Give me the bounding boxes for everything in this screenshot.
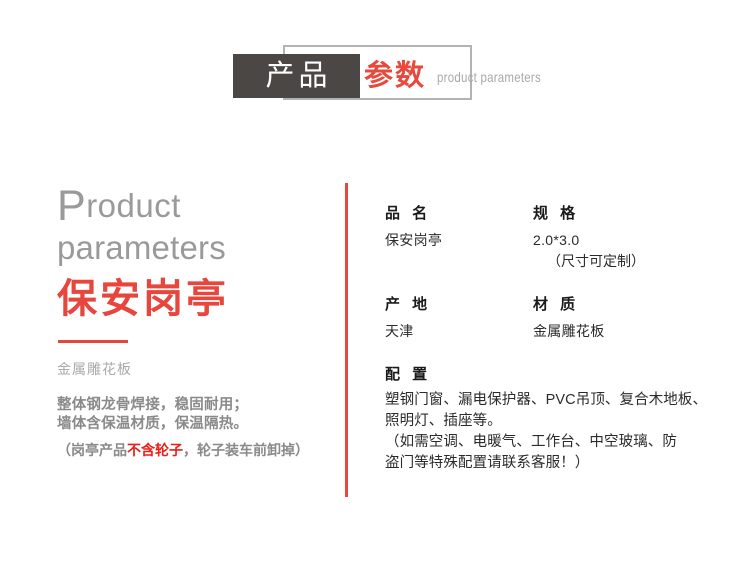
spec-cell-origin: 产 地 天津 [385, 294, 533, 342]
configuration-line-1: 塑钢门窗、漏电保护器、PVC吊顶、复合木地板、 [385, 390, 730, 411]
spec-value: 天津 [385, 321, 533, 342]
spec-value: 金属雕花板 [533, 321, 730, 342]
spec-row: 产 地 天津 材 质 金属雕花板 [385, 294, 730, 342]
product-material-subtitle: 金属雕花板 [57, 359, 332, 379]
column-divider [345, 183, 348, 497]
note-highlight: 不含轮子 [127, 442, 183, 458]
spec-value: 2.0*3.0 [533, 230, 730, 251]
product-description: 整体钢龙骨焊接，稳固耐用； 墙体含保温材质，保温隔热。 [57, 396, 332, 434]
spec-cell-name: 品 名 保安岗亭 [385, 203, 533, 272]
english-heading-rest: roduct [86, 187, 181, 224]
configuration-block: 配 置 塑钢门窗、漏电保护器、PVC吊顶、复合木地板、 照明灯、插座等。 （如需… [385, 364, 730, 474]
configuration-line-4: 盗门等特殊配置请联系客服！） [385, 453, 730, 474]
configuration-label: 配 置 [385, 364, 730, 386]
spec-table: 品 名 保安岗亭 规 格 2.0*3.0 （尺寸可定制） 产 地 天津 材 质 … [385, 203, 730, 474]
spec-row: 品 名 保安岗亭 规 格 2.0*3.0 （尺寸可定制） [385, 203, 730, 272]
spec-cell-size: 规 格 2.0*3.0 （尺寸可定制） [533, 203, 730, 272]
product-note: （岗亭产品不含轮子，轮子装车前卸掉） [57, 441, 332, 460]
note-suffix: ，轮子装车前卸掉） [183, 442, 309, 458]
configuration-line-2: 照明灯、插座等。 [385, 411, 730, 432]
spec-label: 规 格 [533, 203, 730, 225]
spec-value-note: （尺寸可定制） [547, 251, 730, 272]
note-prefix: （岗亭产品 [57, 442, 127, 458]
spec-label: 产 地 [385, 294, 533, 316]
english-heading-capital: P [57, 182, 86, 230]
page-header-banner: 产品 参数 product parameters [0, 0, 750, 150]
spec-label: 材 质 [533, 294, 730, 316]
spec-label: 品 名 [385, 203, 533, 225]
product-title-cn: 保安岗亭 [57, 274, 332, 324]
english-heading-line-1: Product [57, 186, 332, 226]
configuration-text: 塑钢门窗、漏电保护器、PVC吊顶、复合木地板、 照明灯、插座等。 （如需空调、电… [385, 390, 730, 474]
spec-value: 保安岗亭 [385, 230, 533, 251]
spec-cell-material: 材 质 金属雕花板 [533, 294, 730, 342]
banner-title-primary: 产品 [233, 54, 360, 98]
english-heading-line-2: parameters [57, 226, 332, 270]
banner-title-accent: 参数 [364, 54, 426, 98]
left-intro-column: Product parameters 保安岗亭 金属雕花板 整体钢龙骨焊接，稳固… [57, 186, 332, 460]
banner-title-english: product parameters [437, 54, 541, 98]
configuration-line-3: （如需空调、电暖气、工作台、中空玻璃、防 [385, 432, 730, 453]
description-line-1: 整体钢龙骨焊接，稳固耐用； [57, 396, 332, 415]
accent-underline [58, 340, 128, 343]
description-line-2: 墙体含保温材质，保温隔热。 [57, 415, 332, 434]
